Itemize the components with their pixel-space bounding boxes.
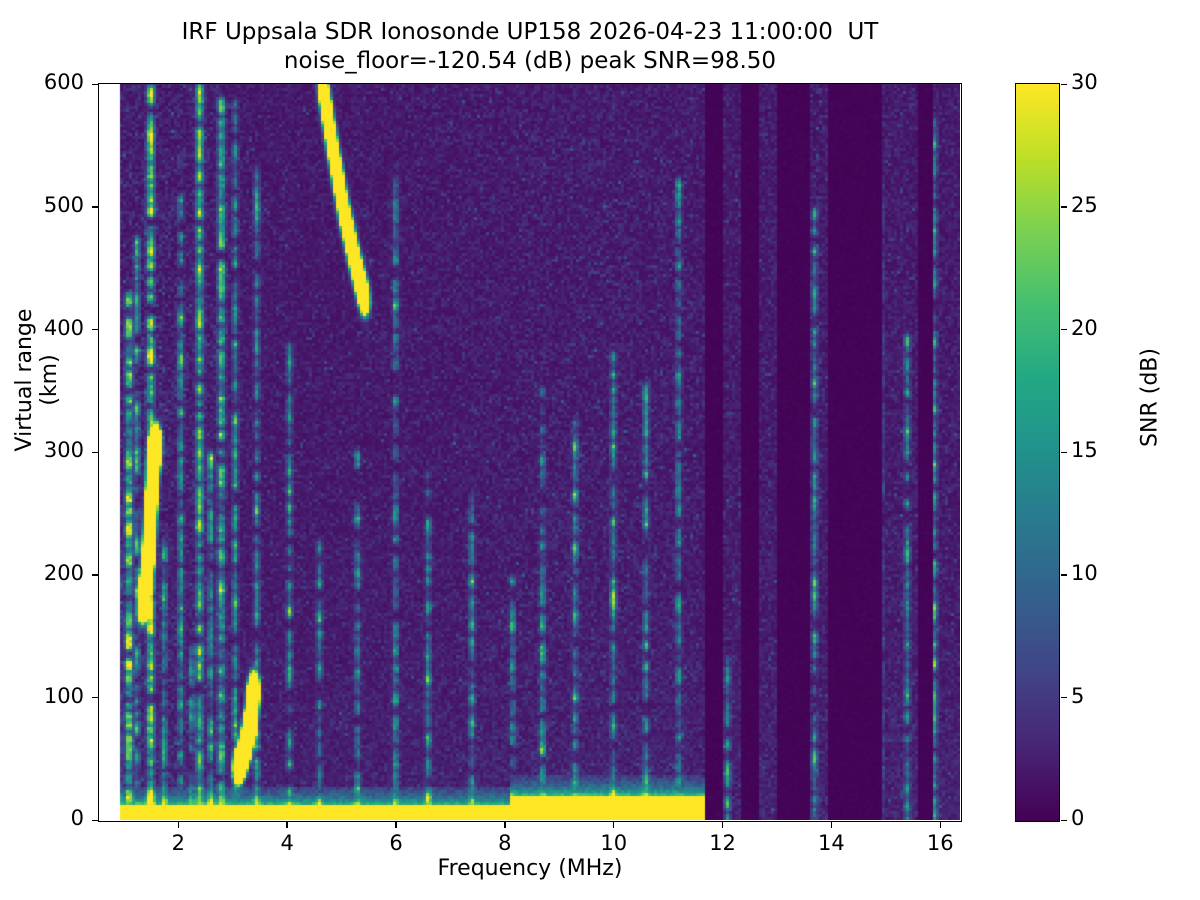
colorbar-tick-label: 30 xyxy=(1071,70,1141,94)
figure-title: IRF Uppsala SDR Ionosonde UP158 2026-04-… xyxy=(0,18,1060,77)
y-axis-tick xyxy=(92,697,98,698)
title-line-2: noise_floor=-120.54 (dB) peak SNR=98.50 xyxy=(0,47,1060,76)
x-axis-tick-label: 10 xyxy=(579,831,649,855)
x-axis-tick xyxy=(940,822,941,828)
y-axis-tick xyxy=(92,574,98,575)
x-axis-tick-label: 2 xyxy=(143,831,213,855)
x-axis-tick xyxy=(613,822,614,828)
colorbar xyxy=(1015,83,1060,822)
colorbar-tick xyxy=(1061,206,1067,207)
title-line-1: IRF Uppsala SDR Ionosonde UP158 2026-04-… xyxy=(0,18,1060,47)
y-axis-tick xyxy=(92,329,98,330)
colorbar-tick-label: 5 xyxy=(1071,684,1141,708)
x-axis-tick xyxy=(178,822,179,828)
x-axis-label: Frequency (MHz) xyxy=(98,856,962,881)
colorbar-tick xyxy=(1061,84,1067,85)
y-axis-tick-label: 600 xyxy=(14,70,84,94)
x-axis-tick xyxy=(504,822,505,828)
y-axis-tick-label: 400 xyxy=(14,316,84,340)
y-axis-tick xyxy=(92,452,98,453)
x-axis-tick-label: 16 xyxy=(905,831,975,855)
colorbar-tick xyxy=(1061,329,1067,330)
x-axis-tick-label: 6 xyxy=(361,831,431,855)
y-axis-tick xyxy=(92,206,98,207)
y-axis-tick-label: 0 xyxy=(14,806,84,830)
x-axis-tick xyxy=(286,822,287,828)
x-axis-tick-label: 12 xyxy=(688,831,758,855)
colorbar-tick xyxy=(1061,697,1067,698)
x-axis-tick-label: 4 xyxy=(252,831,322,855)
colorbar-tick xyxy=(1061,820,1067,821)
x-axis-tick xyxy=(395,822,396,828)
ionogram-plot-area xyxy=(98,83,962,822)
colorbar-tick xyxy=(1061,452,1067,453)
y-axis-tick-label: 300 xyxy=(14,438,84,462)
y-axis-tick xyxy=(92,820,98,821)
x-axis-tick xyxy=(831,822,832,828)
ionogram-figure: IRF Uppsala SDR Ionosonde UP158 2026-04-… xyxy=(0,0,1200,900)
y-axis-tick-label: 200 xyxy=(14,561,84,585)
colorbar-label: SNR (dB) xyxy=(1138,288,1163,508)
y-axis-tick-label: 100 xyxy=(14,684,84,708)
ionogram-heatmap xyxy=(99,84,960,820)
colorbar-tick-label: 10 xyxy=(1071,561,1141,585)
colorbar-tick-label: 20 xyxy=(1071,316,1141,340)
x-axis-tick xyxy=(722,822,723,828)
colorbar-gradient xyxy=(1016,84,1059,821)
colorbar-tick-label: 0 xyxy=(1071,806,1141,830)
colorbar-tick-label: 15 xyxy=(1071,438,1141,462)
colorbar-tick xyxy=(1061,574,1067,575)
colorbar-tick-label: 25 xyxy=(1071,193,1141,217)
y-axis-tick xyxy=(92,84,98,85)
x-axis-tick-label: 8 xyxy=(470,831,540,855)
y-axis-tick-label: 500 xyxy=(14,193,84,217)
x-axis-tick-label: 14 xyxy=(796,831,866,855)
